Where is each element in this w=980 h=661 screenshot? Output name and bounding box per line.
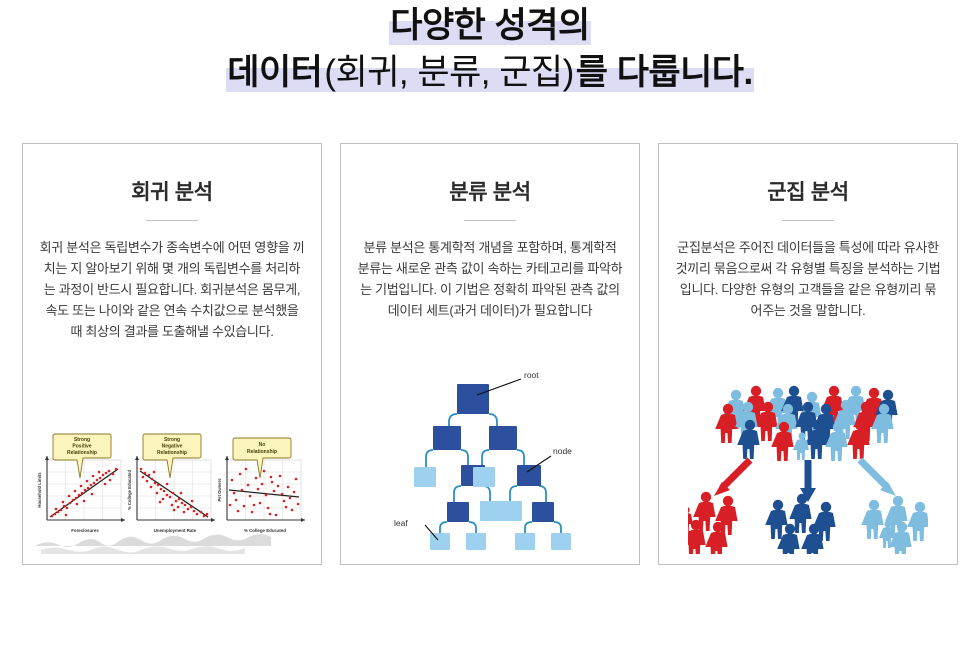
svg-text:Relationship: Relationship (67, 450, 97, 456)
tree-label-leaf: leaf (394, 518, 408, 528)
scatter-ylabel-2: % College Educated (127, 470, 132, 510)
card-clustering-body: 군집분석은 주어진 데이터들을 특성에 따라 유사한 것끼리 묶음으로써 각 유… (659, 237, 957, 321)
svg-text:Positive: Positive (72, 444, 91, 450)
cluster-figure (659, 364, 957, 564)
tree-node-l3-left (447, 502, 469, 522)
scatter-ylabel-1: Household Limits (37, 472, 42, 508)
card-regression-title: 회귀 분석 (131, 176, 213, 206)
regression-figure: Foreclosures Household Limits Strong Pos… (23, 430, 321, 564)
cluster-group-dark-blue (765, 494, 835, 554)
tree-leaf-b (473, 467, 495, 487)
card-classification: 분류 분석 분류 분석은 통계학적 개념을 포함하며, 통계학적 분류는 새로운… (340, 143, 640, 565)
title-line-2-part-c: 를 다룹니다. (575, 53, 754, 92)
cluster-group-red (688, 492, 738, 554)
decision-tree-figure: root node leaf (341, 362, 639, 564)
title-line-1-text: 다양한 성격의 (389, 6, 590, 45)
tree-node-l2-right (517, 465, 541, 486)
tree-node-l1-right (489, 426, 517, 450)
scatter-xlabel-2: Unemployment Rate (154, 528, 197, 533)
scatter-panels-svg: Foreclosures Household Limits Strong Pos… (31, 430, 313, 558)
svg-text:Negative: Negative (162, 444, 183, 450)
svg-text:Strong: Strong (74, 437, 90, 443)
cluster-arrow-red (714, 460, 750, 496)
tree-leaf-e (430, 533, 450, 550)
tree-leaf-d (500, 501, 522, 521)
tree-leaf-a (414, 467, 436, 487)
tree-label-root: root (524, 370, 539, 380)
card-classification-divider (464, 220, 516, 221)
cluster-people-svg (688, 364, 928, 554)
title-line-2: 데이터(회귀, 분류, 군집)를 다룹니다. (0, 55, 980, 90)
tree-node-l1-left (433, 426, 461, 450)
title-line-2-part-b: (회귀, 분류, 군집) (323, 53, 574, 92)
tree-root-node (457, 384, 489, 414)
card-regression-divider (146, 220, 198, 221)
card-clustering: 군집 분석 군집분석은 주어진 데이터들을 특성에 따라 유사한 것끼리 묶음으… (658, 143, 958, 565)
cluster-group-light-blue (861, 496, 928, 554)
tree-leaf-f (466, 533, 486, 550)
card-regression-body: 회귀 분석은 독립변수가 종속변수에 어떤 영향을 끼치는 지 알아보기 위해 … (23, 237, 321, 342)
card-clustering-divider (782, 220, 834, 221)
tree-label-node: node (553, 446, 572, 456)
scatter-plot-positive: Foreclosures Household Limits Strong Pos… (37, 434, 125, 533)
card-classification-body: 분류 분석은 통계학적 개념을 포함하며, 통계학적 분류는 새로운 관측 값이… (341, 237, 639, 321)
card-classification-title: 분류 분석 (449, 176, 531, 206)
page-title: 다양한 성격의 데이터(회귀, 분류, 군집)를 다룹니다. (0, 0, 980, 90)
scatter-ylabel-3: Pet Owners (217, 478, 222, 502)
svg-text:Relationship: Relationship (247, 449, 277, 455)
card-regression: 회귀 분석 회귀 분석은 독립변수가 종속변수에 어떤 영향을 끼치는 지 알아… (22, 143, 322, 565)
ground-texture (35, 534, 271, 554)
card-clustering-title: 군집 분석 (767, 176, 849, 206)
scatter-plot-negative: Unemployment Rate % College Educated Str… (127, 434, 215, 533)
scatter-xlabel-3: % College Educated (244, 528, 286, 533)
mixed-crowd (715, 386, 897, 461)
tree-leaf-g (515, 533, 535, 550)
title-line-1: 다양한 성격의 (0, 8, 980, 43)
card-row: 회귀 분석 회귀 분석은 독립변수가 종속변수에 어떤 영향을 끼치는 지 알아… (0, 143, 980, 565)
title-line-2-part-a: 데이터 (226, 53, 323, 92)
tree-leaf-h (551, 533, 571, 550)
svg-text:No: No (259, 442, 266, 448)
svg-text:Strong: Strong (164, 437, 180, 443)
scatter-plot-none: % College Educated Pet Owners No Relatio… (217, 438, 305, 533)
tree-node-l3-right (532, 502, 554, 522)
decision-tree-svg: root node leaf (385, 362, 595, 550)
scatter-xlabel-1: Foreclosures (71, 528, 99, 533)
cluster-arrow-light-blue (860, 460, 896, 496)
tree-leaf-c (480, 501, 502, 521)
svg-text:Relationship: Relationship (157, 450, 187, 456)
